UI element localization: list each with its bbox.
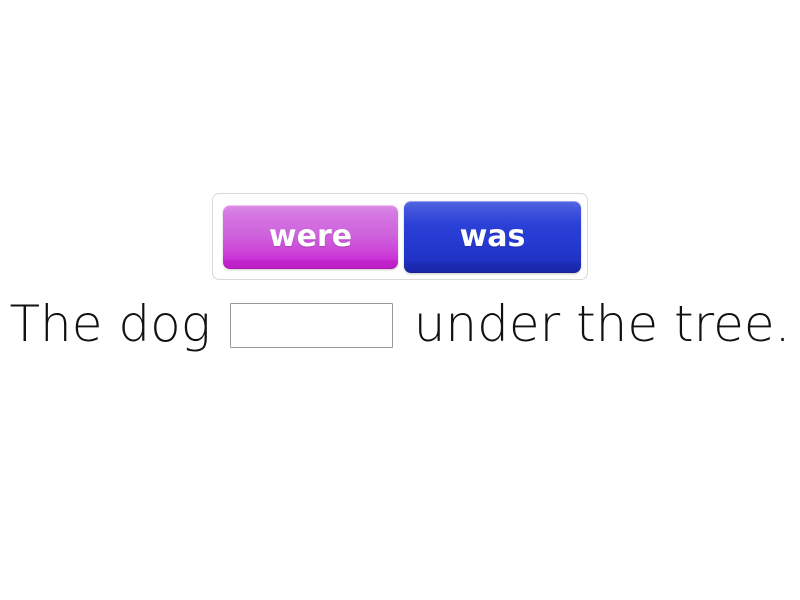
word-tile-were-label: were <box>269 222 352 252</box>
sentence-tail-text: under the tree. <box>414 299 791 349</box>
word-tile-was[interactable]: was <box>404 201 581 273</box>
answer-drop-slot[interactable] <box>230 303 393 348</box>
sentence-line: The dog under the tree. <box>0 288 800 360</box>
sentence-lead-text: The dog <box>10 299 211 349</box>
word-bank: were was <box>212 193 588 280</box>
word-tile-were[interactable]: were <box>223 205 398 269</box>
word-tile-was-label: was <box>460 222 526 252</box>
